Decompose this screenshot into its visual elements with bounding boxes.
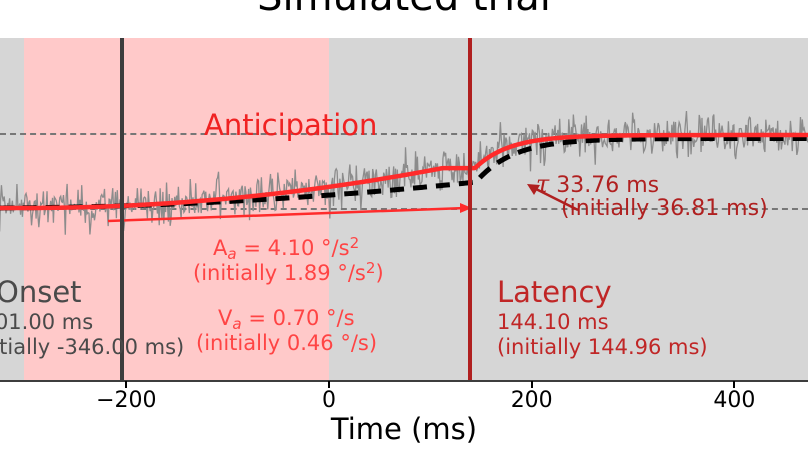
onset-value: -301.00 ms [0,310,93,334]
x-tick-label: 200 [511,388,553,413]
tau-value: τ 33.76 ms [536,170,659,198]
anticipation-label: Anticipation [204,108,377,142]
x-tick-mark [125,381,127,388]
velocity-initial-value: (initially 0.46 °/s) [196,331,377,355]
x-tick-mark [531,381,533,388]
x-tick-mark [328,381,330,388]
acceleration-symbol: A [213,236,227,260]
acceleration-initial-prefix: (initially 1.89 °/s [193,261,366,285]
x-tick-label: 0 [322,388,336,413]
acceleration-exponent: 2 [350,234,360,252]
latency-vline [468,38,472,381]
latency-label: Latency [497,275,612,309]
acceleration-initial-suffix: ) [375,261,383,285]
acceleration-number: = 4.10 °/s [243,236,349,260]
latency-value: 144.10 ms [497,310,609,334]
plot-bottom-border [0,380,808,382]
x-tick-mark [733,381,735,388]
tau-symbol: τ [536,170,549,198]
onset-label: Onset [0,275,82,309]
velocity-value: Va = 0.70 °/s [218,306,355,333]
tau-initial-value: (initially 36.81 ms) [561,196,768,221]
velocity-number: = 0.70 °/s [248,306,354,330]
acceleration-initial-value: (initially 1.89 °/s2) [193,259,384,285]
x-tick-label: 400 [713,388,755,413]
velocity-symbol: V [218,306,232,330]
x-axis-label: Time (ms) [0,412,808,446]
tau-number: 33.76 ms [556,173,659,198]
x-tick-label: −200 [96,388,156,413]
figure-title: Simulated trial [0,0,808,20]
figure-root: Simulated trial Anticipation Onse [0,0,808,455]
onset-initial-value: (initially -346.00 ms) [0,335,184,359]
onset-vline [120,38,124,381]
latency-initial-value: (initially 144.96 ms) [497,335,708,359]
